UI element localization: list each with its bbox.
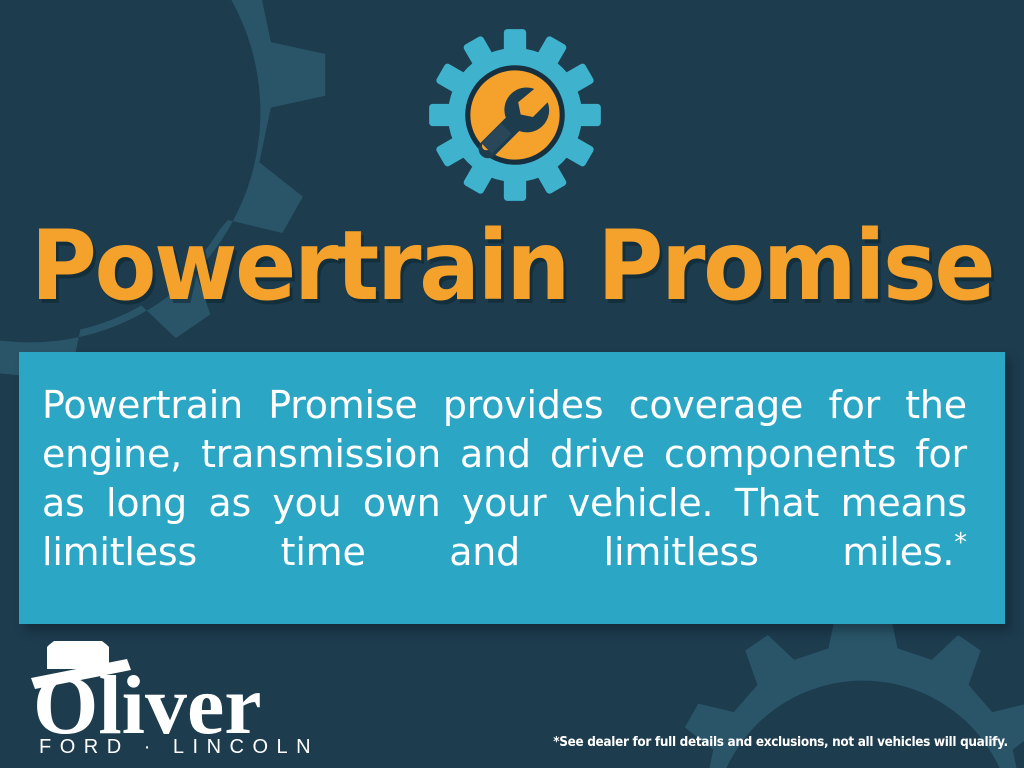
oliver-tagline-text: FORD · LINCOLN — [39, 736, 319, 755]
dealer-logo: Oliver FORD · LINCOLN — [27, 641, 327, 755]
asterisk-mark: * — [954, 528, 967, 558]
promise-panel: Powertrain Promise provides coverage for… — [19, 352, 1005, 624]
promise-body-text: Powertrain Promise provides coverage for… — [42, 381, 967, 626]
promise-body-copy: Powertrain Promise provides coverage for… — [42, 383, 967, 575]
page-title: Powertrain Promise — [31, 216, 994, 316]
oliver-wordmark: Oliver FORD · LINCOLN — [27, 641, 327, 755]
gear-wrench-icon — [429, 24, 601, 206]
disclaimer-text: *See dealer for full details and exclusi… — [553, 735, 1008, 751]
promotional-graphic: Powertrain Promise Powertrain Promise pr… — [0, 0, 1024, 768]
